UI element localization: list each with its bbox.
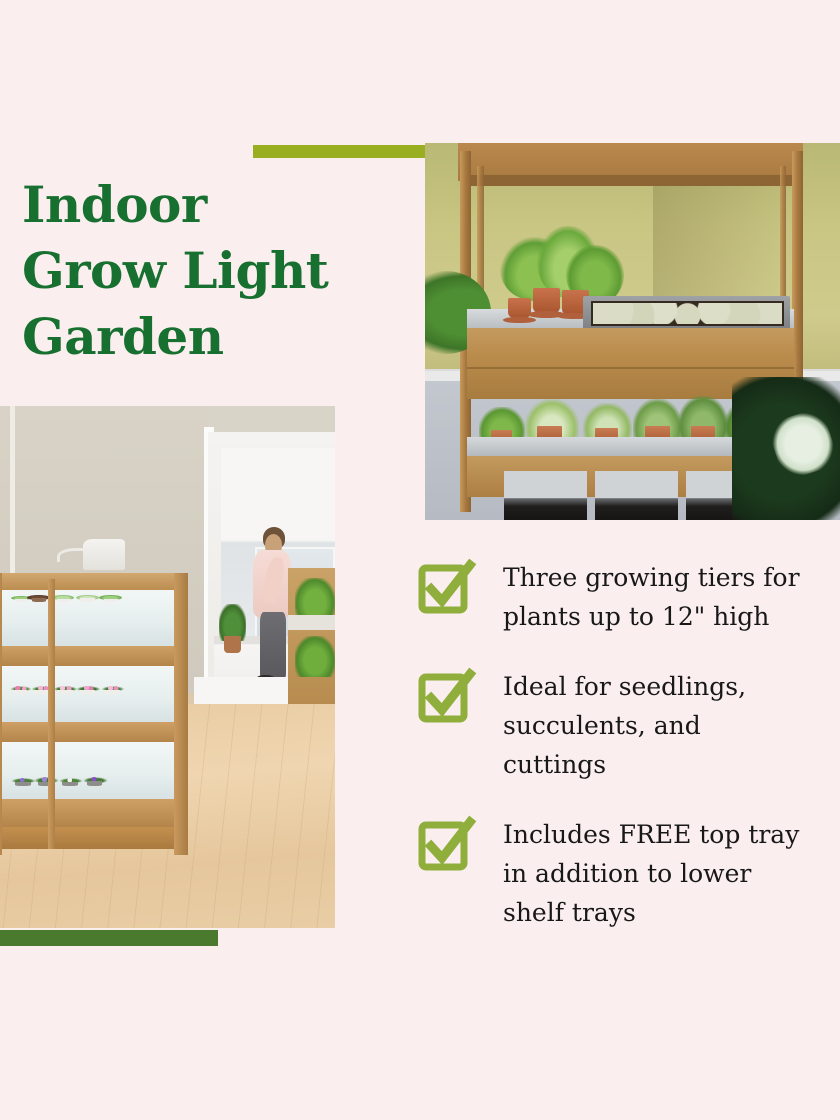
feature-item: Includes FREE top tray in addition to lo…	[418, 815, 818, 932]
tier3-pot	[87, 781, 103, 786]
unit-beam	[0, 799, 182, 827]
tier1-pot	[80, 598, 96, 602]
stand-top-rail-shadow	[462, 175, 798, 186]
feature-label: Ideal for seedlings, succulents, and cut…	[503, 667, 803, 784]
checkbox-checked-icon	[418, 819, 476, 873]
title-line-2: Grow Light	[22, 238, 402, 304]
tier2-pot	[13, 690, 27, 694]
product-photo-grow-stand	[425, 143, 840, 520]
tier2-pot	[80, 690, 96, 694]
product-feature-card: Indoor Grow Light Garden	[0, 0, 840, 1120]
unit-top-frame	[0, 573, 188, 590]
feature-label: Three growing tiers for plants up to 12"…	[503, 558, 803, 636]
green-accent-bar	[0, 930, 218, 946]
checkbox-checked-icon	[418, 671, 476, 725]
seed-plugs	[593, 303, 782, 324]
feature-item: Three growing tiers for plants up to 12"…	[418, 558, 818, 636]
checkbox-checked-icon	[418, 562, 476, 616]
olive-accent-bar	[253, 145, 425, 158]
watering-can	[83, 539, 126, 570]
grow-tier-3	[0, 742, 174, 798]
title-line-3: Garden	[22, 304, 402, 370]
feature-label: Includes FREE top tray in addition to lo…	[503, 815, 803, 932]
second-stand-plant	[295, 578, 335, 620]
person-legs	[260, 612, 287, 680]
tier2-pot	[104, 690, 120, 694]
floor-seed-tray	[504, 471, 587, 520]
grow-tier-2	[0, 666, 174, 722]
terracotta-pot	[533, 288, 560, 313]
tier1-pot	[104, 599, 118, 603]
tier3-pot	[62, 782, 78, 786]
grow-tier-1	[0, 590, 174, 646]
unit-side-right	[174, 573, 188, 855]
unit-beam	[0, 646, 182, 666]
tier1-pot	[15, 599, 27, 602]
unit-base	[0, 827, 182, 850]
lifestyle-photo-home-interior	[0, 406, 335, 928]
background-plant-pot	[224, 636, 241, 654]
second-stand-plant	[295, 636, 335, 678]
unit-side-left	[0, 573, 2, 855]
unit-center-post	[48, 579, 56, 850]
tier2-pot	[57, 690, 73, 694]
tier1-pot	[32, 598, 46, 602]
page-title: Indoor Grow Light Garden	[22, 172, 402, 370]
feature-list: Three growing tiers for plants up to 12"…	[418, 558, 818, 963]
floor-seed-tray	[595, 471, 678, 520]
second-stand-shelf	[288, 615, 335, 631]
tier1-pot	[57, 599, 71, 603]
unit-beam	[0, 722, 182, 742]
grow-light-garden-unit	[0, 573, 188, 855]
tier3-pot	[15, 782, 31, 786]
feature-item: Ideal for seedlings, succulents, and cut…	[418, 667, 818, 784]
title-line-1: Indoor	[22, 172, 402, 238]
